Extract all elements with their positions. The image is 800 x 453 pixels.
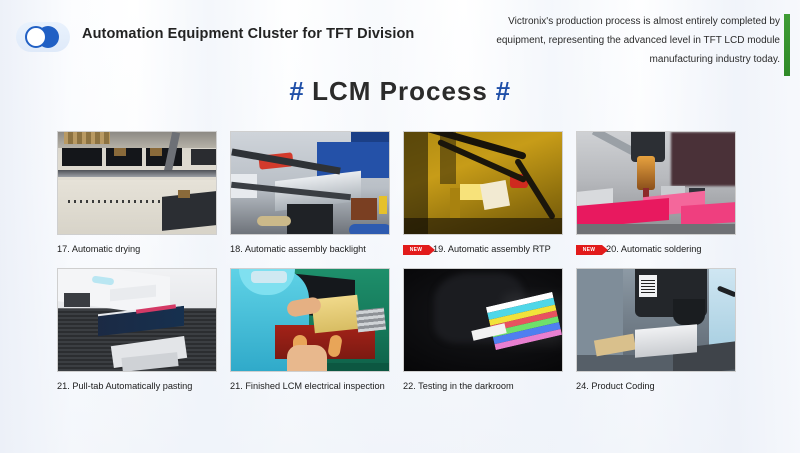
caption-text: 21. Finished LCM electrical inspection (230, 380, 385, 393)
caption-text: 21. Pull-tab Automatically pasting (57, 380, 192, 393)
hash-right-icon: # (496, 76, 511, 106)
gallery-caption: 21. Pull-tab Automatically pasting (57, 380, 217, 393)
thumbnail-automatic-assembly-rtp[interactable] (403, 131, 563, 235)
gallery-caption: 18. Automatic assembly backlight (230, 243, 390, 256)
caption-text: 18. Automatic assembly backlight (230, 243, 366, 256)
thumbnail-product-coding[interactable] (576, 268, 736, 372)
hash-left-icon: # (289, 76, 304, 106)
section-title: # LCM Process # (0, 76, 800, 107)
gallery-caption: NEW 20. Automatic soldering (576, 243, 736, 256)
thumbnail-darkroom-testing[interactable] (403, 268, 563, 372)
gallery-item[interactable]: NEW 20. Automatic soldering (576, 131, 736, 256)
new-badge-label: NEW (576, 245, 602, 255)
gallery-caption: 22. Testing in the darkroom (403, 380, 563, 393)
gallery-item[interactable]: NEW 19. Automatic assembly RTP (403, 131, 563, 256)
header-note-text: Victronix's production process is almost… (474, 12, 792, 69)
page-header: Automation Equipment Cluster for TFT Div… (0, 0, 800, 72)
thumbnail-automatic-assembly-backlight[interactable] (230, 131, 390, 235)
process-gallery-grid: 17. Automatic drying 18. Automatic assem… (57, 131, 747, 393)
gallery-caption: 24. Product Coding (576, 380, 736, 393)
gallery-item[interactable]: 24. Product Coding (576, 268, 736, 393)
thumbnail-automatic-drying[interactable] (57, 131, 217, 235)
gallery-item[interactable]: 21. Finished LCM electrical inspection (230, 268, 390, 393)
thumbnail-lcm-electrical-inspection[interactable] (230, 268, 390, 372)
gallery-item[interactable]: 21. Pull-tab Automatically pasting (57, 268, 217, 393)
green-accent-bar (784, 14, 790, 76)
new-badge: NEW (403, 245, 429, 255)
caption-text: 24. Product Coding (576, 380, 655, 393)
caption-text: 22. Testing in the darkroom (403, 380, 514, 393)
gallery-caption: 17. Automatic drying (57, 243, 217, 256)
caption-text: 19. Automatic assembly RTP (433, 243, 551, 256)
new-badge-label: NEW (403, 245, 429, 255)
new-badge: NEW (576, 245, 602, 255)
toggle-circle-hollow (25, 26, 47, 48)
header-note-block: Victronix's production process is almost… (474, 12, 792, 69)
caption-text: 20. Automatic soldering (606, 243, 702, 256)
caption-text: 17. Automatic drying (57, 243, 140, 256)
gallery-caption: NEW 19. Automatic assembly RTP (403, 243, 563, 256)
thumbnail-automatic-soldering[interactable] (576, 131, 736, 235)
toggle-circles-icon (22, 26, 66, 48)
thumbnail-pull-tab-pasting[interactable] (57, 268, 217, 372)
gallery-item[interactable]: 22. Testing in the darkroom (403, 268, 563, 393)
gallery-item[interactable]: 17. Automatic drying (57, 131, 217, 256)
page-title: Automation Equipment Cluster for TFT Div… (82, 26, 414, 42)
gallery-item[interactable]: 18. Automatic assembly backlight (230, 131, 390, 256)
section-title-text: LCM Process (312, 76, 488, 106)
gallery-caption: 21. Finished LCM electrical inspection (230, 380, 390, 393)
